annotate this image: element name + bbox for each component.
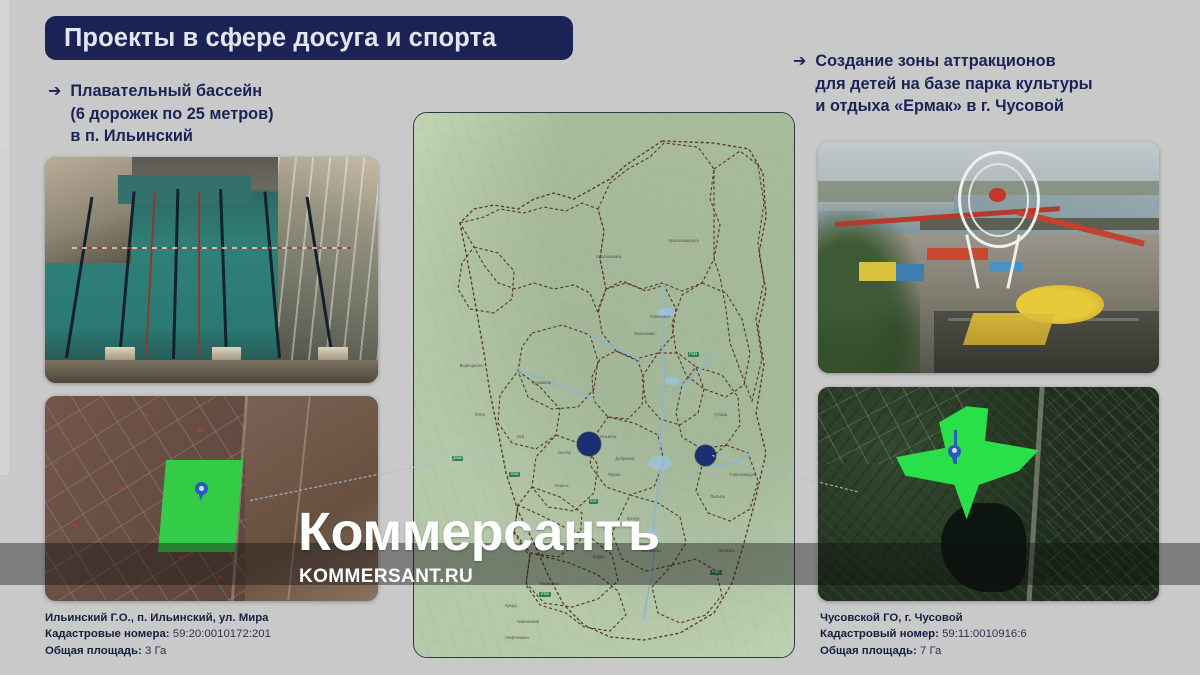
map-pin-icon [948, 445, 961, 464]
map-city-label: Очёр [475, 412, 485, 417]
caption-area-label: Общая площадь: [820, 645, 917, 657]
map-pin-icon [195, 482, 208, 501]
arrow-right-icon: ➔ [793, 50, 806, 118]
watermark-brand: Коммерсантъ [298, 505, 660, 559]
caption-cadastral-label: Кадастровые номера: [45, 628, 170, 640]
map-city-label: Куеда [505, 603, 517, 608]
map-city-label: Чайковский [517, 619, 539, 624]
map-city-label: Добрянка [615, 456, 634, 461]
map-city-label: Лысьва [710, 494, 725, 499]
bullet-right: ➔ Создание зоны аттракционов для детей н… [793, 50, 1183, 118]
map-city-label: Краснокамск [596, 254, 621, 259]
map-city-label: Губаха [714, 412, 727, 417]
photo-park-ermak-render [818, 142, 1159, 373]
caption-area-label: Общая площадь: [45, 645, 142, 657]
map-city-label: Оса [517, 434, 525, 439]
caption-cadastral-value: 59:11:0010916:6 [942, 628, 1027, 640]
left-edge-strip-top [0, 0, 9, 150]
map-road-badge: Р343 [688, 352, 699, 357]
map-city-label: Березники [634, 331, 654, 336]
arrow-right-icon: ➔ [48, 80, 61, 148]
caption-cadastral-value: 59:20:0010172:201 [173, 628, 271, 640]
map-city-label: Оханск [555, 483, 569, 488]
map-city-label: Горнозаводск [729, 472, 755, 477]
map-city-label: Пермь [608, 472, 621, 477]
watermark-url: KOMMERSANT.RU [299, 566, 473, 588]
page-title: Проекты в сфере досуга и спорта [64, 24, 496, 53]
caption-cadastral-label: Кадастровый номер: [820, 628, 939, 640]
slide-root: Проекты в сфере досуга и спорта ➔ Плават… [0, 0, 1200, 675]
caption-ilyinsky: Ильинский Г.О., п. Ильинский, ул. Мира К… [45, 610, 395, 659]
photo-swimming-pool [45, 157, 378, 383]
bullet-left-text: Плавательный бассейн (6 дорожек по 25 ме… [70, 80, 273, 148]
caption-address: Ильинский Г.О., п. Ильинский, ул. Мира [45, 610, 395, 626]
map-marker-ilyinsky[interactable] [577, 432, 601, 456]
map-city-label: Соликамск [650, 314, 671, 319]
bullet-right-text: Создание зоны аттракционов для детей на … [815, 50, 1092, 118]
map-road-badge: Р320 [539, 592, 550, 597]
caption-area-value: 7 Га [920, 645, 941, 657]
map-city-label: Красновишерск [669, 238, 699, 243]
bullet-left: ➔ Плавательный бассейн (6 дорожек по 25 … [48, 80, 378, 148]
map-city-label: Кудымкар [532, 380, 551, 385]
caption-chusovoy: Чусовской ГО, г. Чусовой Кадастровый ном… [820, 610, 1170, 659]
left-edge-strip-bottom [0, 150, 9, 475]
map-city-label: Нефтекамск [505, 635, 529, 640]
map-city-label: Ильинск [600, 434, 616, 439]
map-city-label: Нытва [558, 450, 570, 455]
caption-area-value: 3 Га [145, 645, 166, 657]
map-city-label: Верещагино [460, 363, 484, 368]
map-road-badge: Р242 [509, 472, 520, 477]
page-title-bar: Проекты в сфере досуга и спорта [45, 16, 573, 60]
caption-address: Чусовской ГО, г. Чусовой [820, 610, 1170, 626]
